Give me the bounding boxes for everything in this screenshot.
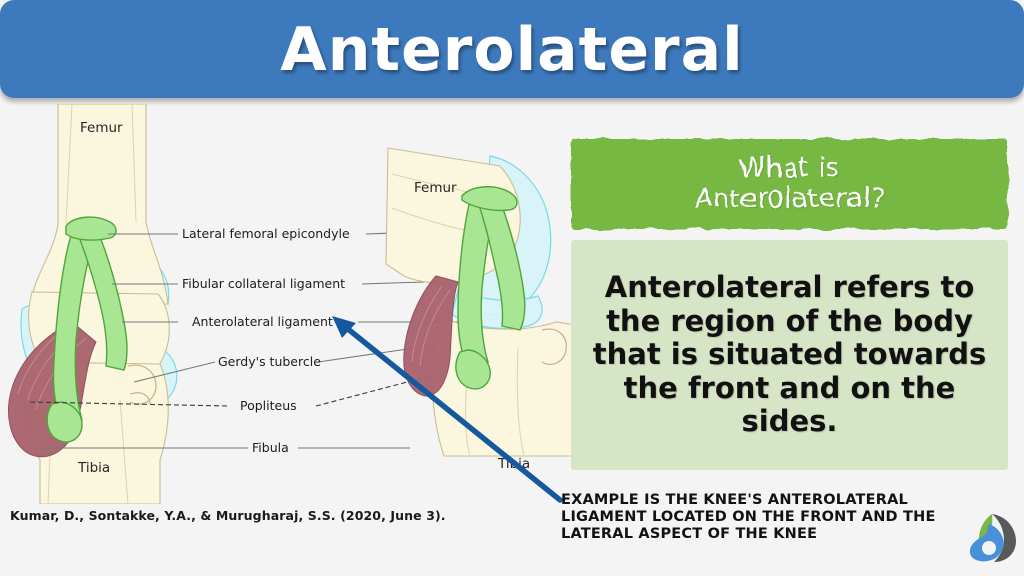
- header-banner: Anterolateral: [0, 0, 1024, 98]
- question-text: What is Anterolateral?: [694, 154, 885, 214]
- left-label-tibia: Tibia: [77, 460, 110, 476]
- annotation-labels: Lateral femoral epicondyle Fibular colla…: [182, 226, 350, 455]
- knee-anatomy-illustration: Femur Tibia Lateral femoral epicondyle F…: [0, 104, 600, 504]
- logo-counter: [982, 541, 996, 555]
- label-lateral-femoral-epicondyle: Lateral femoral epicondyle: [182, 226, 350, 241]
- definition-text: Anterolateral refers to the region of th…: [571, 271, 1008, 439]
- ligament-femoral-insertion: [66, 217, 116, 240]
- right-tibia-bone: [432, 316, 584, 456]
- label-popliteus: Popliteus: [240, 398, 297, 413]
- right-label-femur: Femur: [414, 180, 457, 196]
- label-gerdys-tubercle: Gerdy's tubercle: [218, 354, 321, 369]
- definition-panel: Anterolateral refers to the region of th…: [571, 240, 1008, 470]
- label-anterolateral-ligament: Anterolateral ligament: [192, 314, 333, 329]
- source-citation: Kumar, D., Sontakke, Y.A., & Murugharaj,…: [10, 508, 446, 523]
- label-fibular-collateral-ligament: Fibular collateral ligament: [182, 276, 345, 291]
- right-knee-diagram: Femur Tibia: [386, 148, 584, 472]
- page-title: Anterolateral: [280, 20, 743, 80]
- left-label-femur: Femur: [80, 120, 123, 136]
- label-fibula: Fibula: [252, 440, 289, 455]
- question-banner: What is Anterolateral?: [571, 139, 1008, 229]
- example-caption: Example is the knee's anterolateral liga…: [561, 492, 981, 543]
- left-knee-diagram: Femur Tibia: [8, 104, 176, 504]
- brand-logo: [962, 508, 1018, 564]
